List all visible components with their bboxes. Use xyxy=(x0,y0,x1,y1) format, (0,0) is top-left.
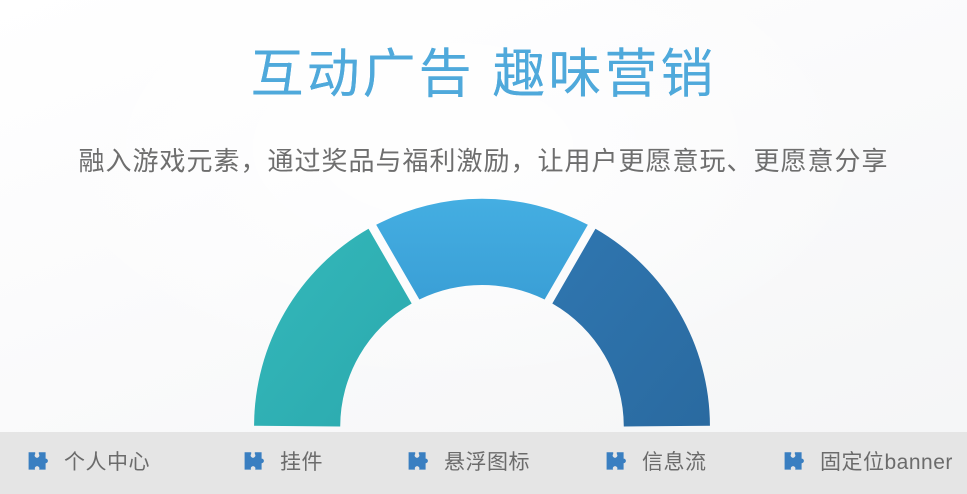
tag-item-feed[interactable]: 信息流 xyxy=(604,450,736,476)
tag-item-fixed-banner[interactable]: 固定位banner xyxy=(782,450,967,476)
tag-item-pendant[interactable]: 挂件 xyxy=(242,450,360,476)
puzzle-piece-icon xyxy=(406,450,432,476)
tag-label: 信息流 xyxy=(642,450,707,476)
tag-item-personal-center[interactable]: 个人中心 xyxy=(26,450,196,476)
tag-item-floating-icon[interactable]: 悬浮图标 xyxy=(406,450,558,476)
bottom-tag-bar: 个人中心 挂件 悬浮图标 信息流 固定位banner xyxy=(0,432,967,494)
puzzle-piece-icon xyxy=(242,450,268,476)
puzzle-piece-icon xyxy=(26,450,52,476)
segment-advertiser-resource[interactable] xyxy=(376,199,588,300)
tag-label: 个人中心 xyxy=(64,450,150,476)
page-title: 互动广告 趣味营销 xyxy=(0,44,967,106)
donut-svg xyxy=(252,186,712,440)
puzzle-piece-icon xyxy=(782,450,808,476)
tag-label: 悬浮图标 xyxy=(444,450,530,476)
tag-label: 挂件 xyxy=(280,450,323,476)
tag-label: 固定位banner xyxy=(820,450,953,476)
segment-theme-scene[interactable] xyxy=(254,229,412,427)
semicircle-donut-chart: 主题场景 广告主资源 自有流量 xyxy=(0,186,967,440)
puzzle-piece-icon xyxy=(604,450,630,476)
promo-poster: 互动广告 趣味营销 融入游戏元素，通过奖品与福利激励，让用户更愿意玩、更愿意分享 xyxy=(0,0,967,494)
page-subtitle: 融入游戏元素，通过奖品与福利激励，让用户更愿意玩、更愿意分享 xyxy=(0,144,967,178)
segment-owned-traffic[interactable] xyxy=(552,229,710,427)
